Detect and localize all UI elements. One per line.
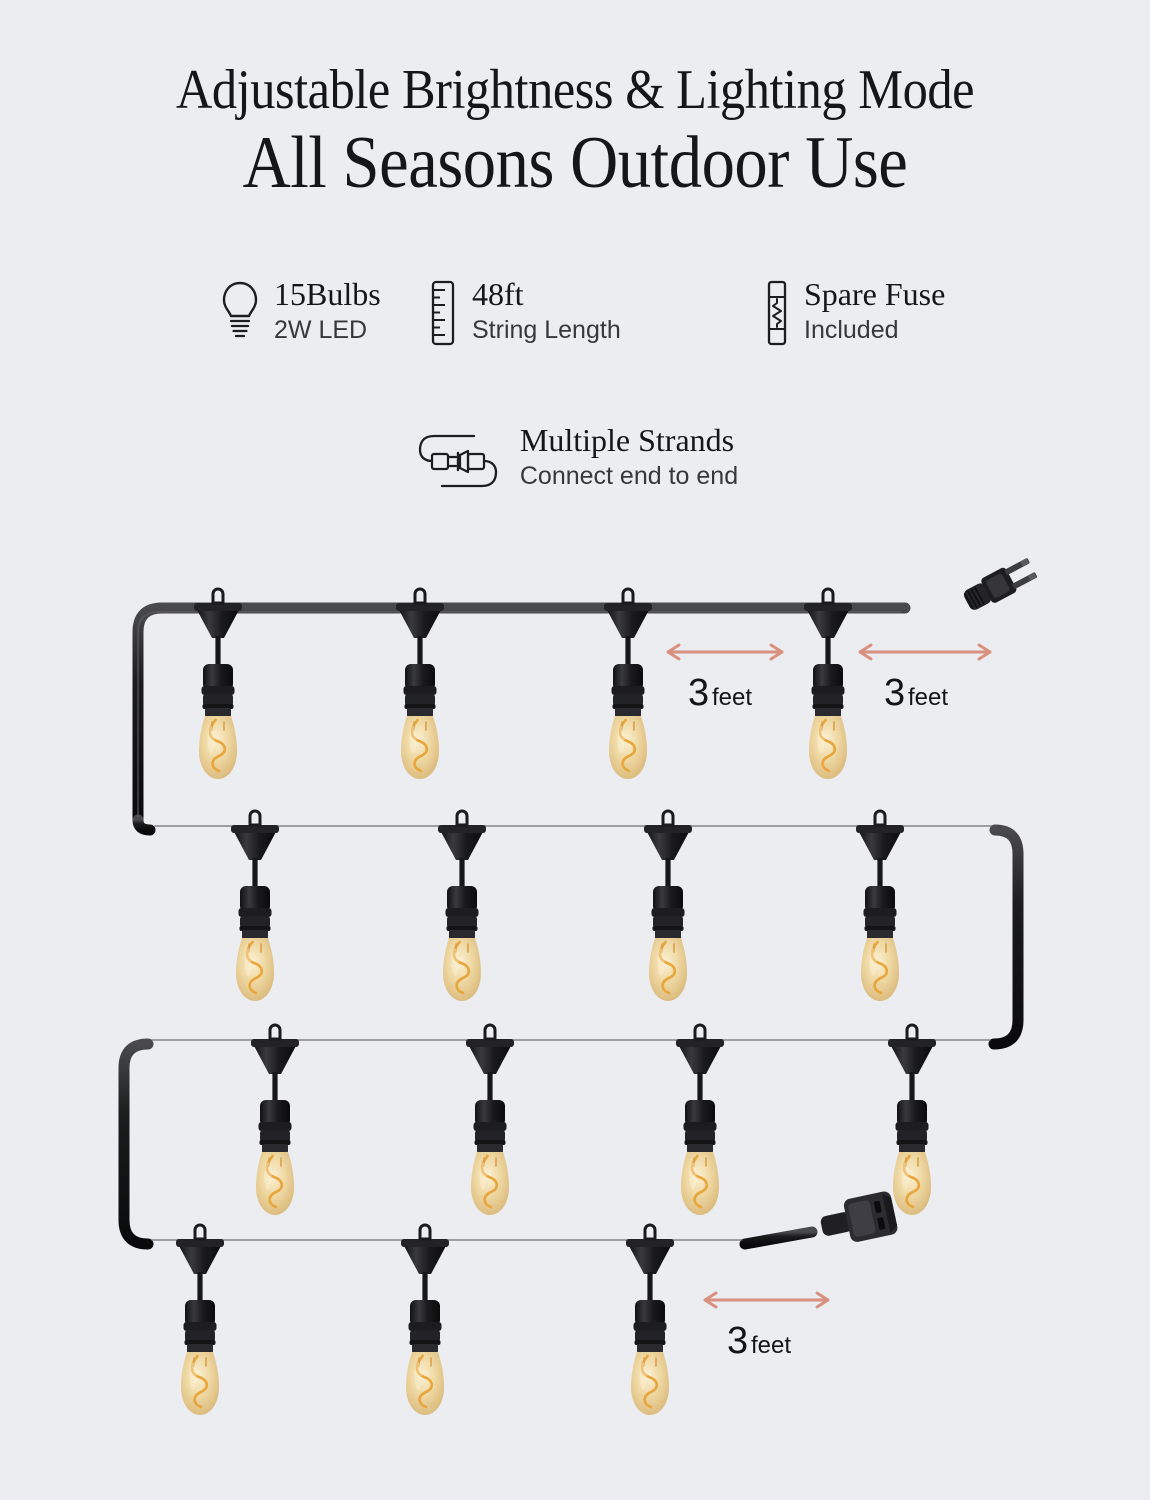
ruler-icon <box>428 278 458 351</box>
fuse-icon <box>764 278 790 351</box>
spacing-label-row1-right: 3 feet <box>884 672 948 714</box>
bulb-unit[interactable] <box>604 589 652 779</box>
bulb-unit[interactable] <box>888 1025 936 1215</box>
bulb-unit[interactable] <box>676 1025 724 1215</box>
spacing-label-row1-left: 3 feet <box>688 672 752 714</box>
feature-length-title: 48ft <box>472 278 621 312</box>
bulb-unit[interactable] <box>194 589 242 779</box>
cord-link-right <box>994 830 1018 1044</box>
cord-tail <box>745 1232 812 1244</box>
spacing-unit: feet <box>751 1332 791 1359</box>
cord-link-left-2 <box>124 1044 148 1244</box>
feature-length-sub: String Length <box>472 315 621 346</box>
bulb-row-2 <box>231 811 904 1001</box>
spacing-number: 3 <box>688 672 709 714</box>
feature-strands-title: Multiple Strands <box>520 424 738 458</box>
bulb-unit[interactable] <box>438 811 486 1001</box>
bulb-unit[interactable] <box>231 811 279 1001</box>
bulb-unit[interactable] <box>804 589 852 779</box>
bulb-unit[interactable] <box>856 811 904 1001</box>
feature-fuse-sub: Included <box>804 315 945 346</box>
bulb-unit[interactable] <box>176 1225 224 1415</box>
bulb-unit[interactable] <box>626 1225 674 1415</box>
bulb-unit[interactable] <box>466 1025 514 1215</box>
spacing-unit: feet <box>712 684 752 711</box>
feature-bulbs-sub: 2W LED <box>274 315 381 346</box>
male-plug-icon <box>960 555 1038 614</box>
page-title: Adjustable Brightness & Lighting Mode Al… <box>0 62 1150 200</box>
feature-strands: Multiple Strands Connect end to end <box>412 424 738 501</box>
female-connector-icon <box>817 1190 899 1248</box>
headline-line-1: Adjustable Brightness & Lighting Mode <box>58 62 1093 118</box>
string-light-diagram: 3 feet 3 feet 3 feet <box>0 520 1150 1420</box>
bulb-row-3 <box>251 1025 936 1215</box>
bulb-icon <box>220 278 260 347</box>
headline-line-2: All Seasons Outdoor Use <box>58 126 1093 200</box>
feature-bulbs-title: 15Bulbs <box>274 278 381 312</box>
feature-fuse: Spare Fuse Included <box>760 278 1060 351</box>
spacing-unit: feet <box>908 684 948 711</box>
spacing-number: 3 <box>727 1320 748 1362</box>
bulb-row-4 <box>176 1225 674 1415</box>
spacing-number: 3 <box>884 672 905 714</box>
spacing-label-row4-right: 3 feet <box>727 1320 791 1362</box>
feature-length: 48ft String Length <box>420 278 760 351</box>
bulb-unit[interactable] <box>251 1025 299 1215</box>
bulb-unit[interactable] <box>396 589 444 779</box>
bulb-row-1 <box>194 589 852 779</box>
feature-strands-row: Multiple Strands Connect end to end <box>0 424 1150 501</box>
plug-connect-icon <box>412 424 504 501</box>
feature-bulbs: 15Bulbs 2W LED <box>90 278 420 351</box>
bulb-unit[interactable] <box>401 1225 449 1415</box>
feature-fuse-title: Spare Fuse <box>804 278 945 312</box>
bulb-unit[interactable] <box>644 811 692 1001</box>
cord-row-1 <box>138 608 905 820</box>
feature-list: 15Bulbs 2W LED 48ft String Length <box>0 278 1150 351</box>
feature-strands-sub: Connect end to end <box>520 461 738 492</box>
